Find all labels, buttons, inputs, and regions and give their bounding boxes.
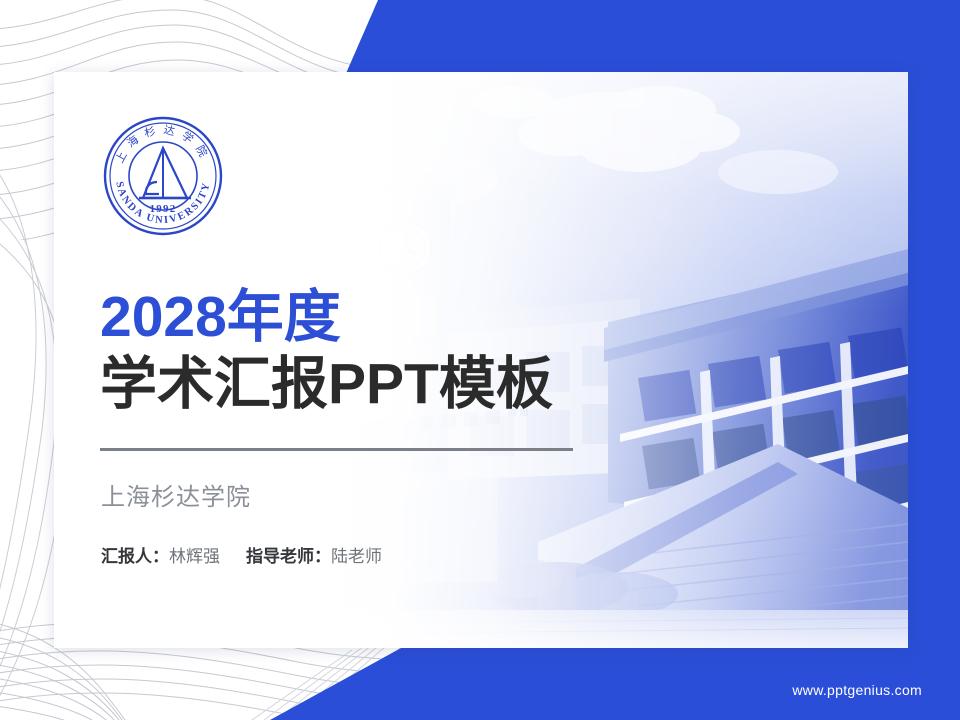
right-blue-band <box>908 0 960 720</box>
reporter-label: 汇报人 <box>101 547 152 566</box>
presenter-info: 汇报人：林辉强指导老师：陆老师 <box>101 548 382 565</box>
title-card: 1992 SANDA UNIVERSITY 上海杉达学院 2028年度 学术汇报… <box>54 72 908 648</box>
title-divider <box>100 448 573 451</box>
title-main: 学术汇报PPT模板 <box>100 353 660 417</box>
top-blue-wedge <box>344 0 960 78</box>
footer-website-url: www.pptgenius.com <box>792 682 922 698</box>
title-block: 2028年度 学术汇报PPT模板 <box>100 287 660 417</box>
title-year: 2028年度 <box>100 287 660 347</box>
reporter-name: 林辉强 <box>169 547 220 566</box>
subtitle-school-name: 上海杉达学院 <box>101 477 251 512</box>
presentation-slide: 1992 SANDA UNIVERSITY 上海杉达学院 2028年度 学术汇报… <box>0 0 960 720</box>
reporter-colon: ： <box>152 547 169 566</box>
svg-text:1992: 1992 <box>150 203 177 215</box>
bottom-blue-wedge <box>270 642 960 720</box>
advisor-name: 陆老师 <box>331 547 382 566</box>
advisor-label: 指导老师 <box>246 547 314 566</box>
sanda-university-logo-icon: 1992 SANDA UNIVERSITY 上海杉达学院 <box>99 112 227 240</box>
advisor-colon: ： <box>314 547 331 566</box>
